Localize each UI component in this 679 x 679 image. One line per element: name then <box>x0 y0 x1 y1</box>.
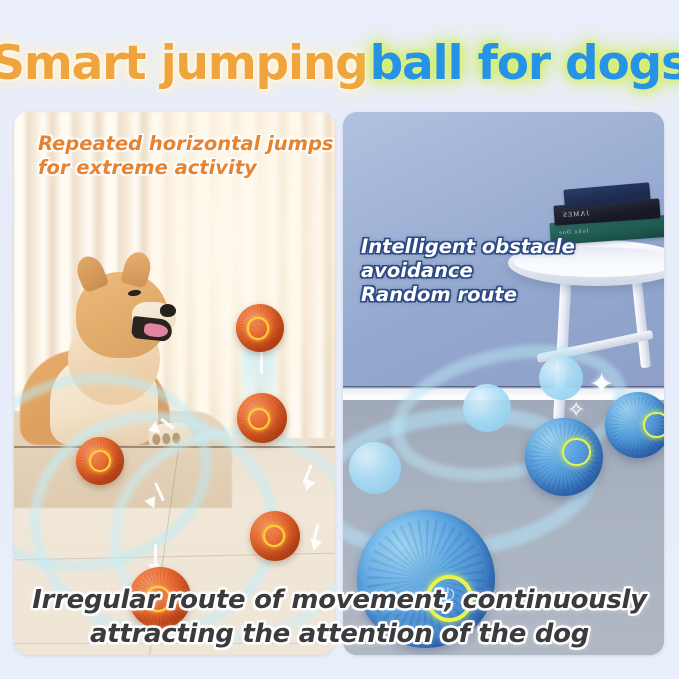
ghost-ball-high <box>539 356 583 400</box>
jumping-demo-panel: Repeated horizontal jumps for extreme ac… <box>14 112 335 655</box>
ball-led-ring <box>562 438 590 466</box>
ball-airborne-top <box>236 304 284 352</box>
ball-led-ring <box>643 412 664 438</box>
ball-airborne-mid <box>237 393 287 443</box>
panel-row: Repeated horizontal jumps for extreme ac… <box>14 112 665 655</box>
impact-spark-icon: ✦ <box>589 370 614 400</box>
book-title-text: JAMES <box>562 209 590 219</box>
obstacle-avoidance-panel: John Doe JAMES ✦ ✧ <box>343 112 664 655</box>
page-title-part-one: Smart jumping <box>0 36 368 91</box>
ball-floor-left <box>76 437 124 485</box>
right-panel-caption: Intelligent obstacle avoidance Random ro… <box>361 235 664 308</box>
page-title-part-two: ball for dogs <box>370 36 679 91</box>
page-title: Smart jumping ball for dogs <box>0 32 679 94</box>
left-panel-caption: Repeated horizontal jumps for extreme ac… <box>38 132 334 180</box>
ball-led-ring <box>248 408 270 430</box>
ball-led-ring <box>247 317 269 339</box>
bottom-caption: Irregular route of movement, continuousl… <box>0 584 679 652</box>
product-advertisement-page: Smart jumping ball for dogs <box>0 0 679 679</box>
ball-mid-right <box>525 418 603 496</box>
ball-far-right <box>605 392 664 458</box>
ball-led-ring <box>89 450 111 472</box>
ghost-ball-low <box>349 442 401 494</box>
ghost-ball-low <box>463 384 511 432</box>
ball-led-ring <box>263 525 285 547</box>
arrow-stem <box>154 544 157 566</box>
ball-floor-center <box>250 511 300 561</box>
dog-nose <box>160 304 176 317</box>
